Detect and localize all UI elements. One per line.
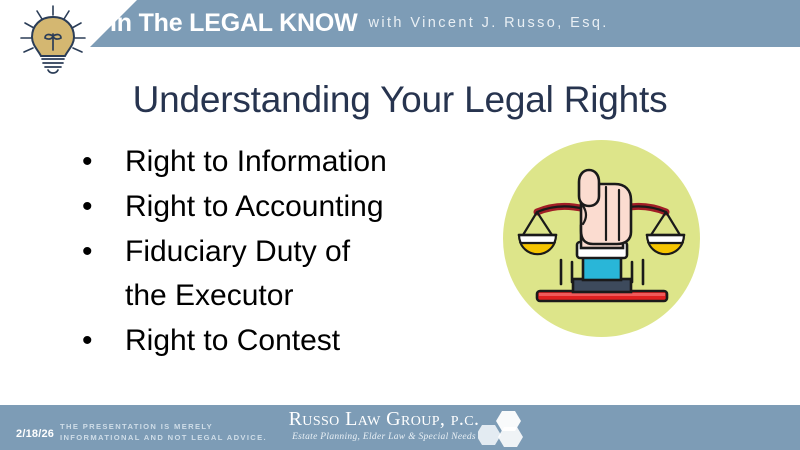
bullet-marker: • xyxy=(82,230,93,274)
list-item-label-continued: the Executor xyxy=(125,274,470,318)
footer-disclaimer: THE PRESENTATION IS MERELY INFORMATIONAL… xyxy=(60,422,290,443)
illustration-group xyxy=(503,140,703,346)
footer-date: 2/18/26 xyxy=(16,428,54,440)
slide-canvas: In The LEGAL KNOW with Vincent J. Russo,… xyxy=(0,0,800,450)
list-item: • Right to Contest xyxy=(70,319,470,363)
show-title: In The LEGAL KNOW xyxy=(110,9,358,38)
company-name: Russo Law Group, p.c. xyxy=(284,408,484,431)
list-item-label: Right to Accounting xyxy=(125,190,384,223)
header-text-group: In The LEGAL KNOW with Vincent J. Russo,… xyxy=(110,0,609,47)
list-item: • Fiduciary Duty of the Executor xyxy=(70,230,470,318)
list-item-label: Right to Information xyxy=(125,145,387,178)
company-tagline: Estate Planning, Elder Law & Special Nee… xyxy=(284,431,484,443)
list-item-label: Right to Contest xyxy=(125,324,340,357)
hexagons-logo-icon xyxy=(478,409,534,449)
page-title: Understanding Your Legal Rights xyxy=(0,78,800,122)
hand-holding-scales-of-justice-icon xyxy=(503,140,700,337)
company-logo: Russo Law Group, p.c. Estate Planning, E… xyxy=(284,408,484,443)
bullet-marker: • xyxy=(82,319,93,363)
bullet-marker: • xyxy=(82,140,93,184)
bullet-list: • Right to Information • Right to Accoun… xyxy=(70,140,470,364)
list-item: • Right to Accounting xyxy=(70,185,470,229)
disclaimer-line-2: INFORMATIONAL AND NOT LEGAL ADVICE. xyxy=(60,433,290,444)
list-item: • Right to Information xyxy=(70,140,470,184)
list-item-label: Fiduciary Duty of xyxy=(125,235,350,268)
bullet-marker: • xyxy=(82,185,93,229)
show-host-subtitle: with Vincent J. Russo, Esq. xyxy=(369,15,609,32)
disclaimer-line-1: THE PRESENTATION IS MERELY xyxy=(60,422,290,433)
lightbulb-icon xyxy=(4,0,102,76)
